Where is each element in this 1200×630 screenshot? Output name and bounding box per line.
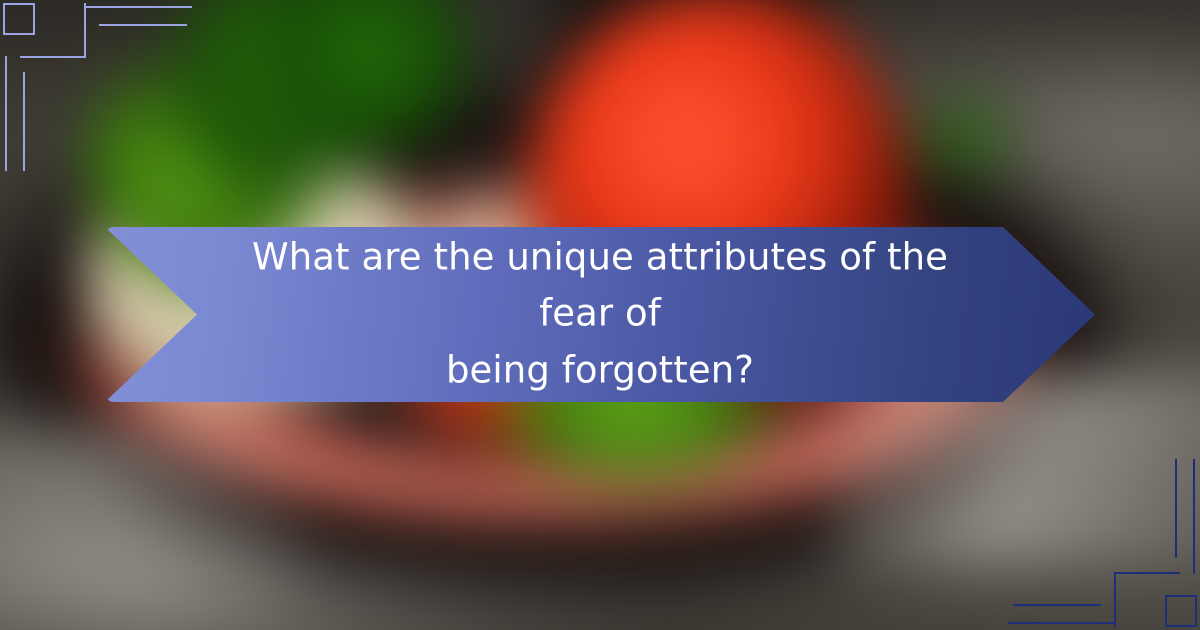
corner-step-horizontal	[20, 56, 86, 58]
corner-step-vertical	[84, 3, 86, 58]
question-banner: What are the unique attributes of the fe…	[105, 227, 1095, 402]
corner-step-horizontal	[1114, 572, 1180, 574]
quote-card: What are the unique attributes of the fe…	[0, 0, 1200, 630]
corner-rule-vertical-outer	[5, 56, 7, 171]
corner-bracket-bottom-right	[1030, 460, 1200, 630]
corner-step-vertical	[1114, 572, 1116, 627]
corner-square-icon	[3, 3, 35, 35]
corner-rule-horizontal-inner	[99, 24, 187, 26]
corner-rule-horizontal-outer	[1008, 622, 1116, 624]
corner-rule-vertical-inner	[23, 72, 25, 171]
corner-rule-vertical-inner	[1175, 459, 1177, 558]
corner-square-icon	[1165, 595, 1197, 627]
corner-rule-horizontal-inner	[1013, 604, 1101, 606]
corner-rule-vertical-outer	[1193, 459, 1195, 574]
basil-cluster-right	[876, 66, 1056, 225]
corner-bracket-top-left	[0, 0, 170, 170]
question-text: What are the unique attributes of the fe…	[225, 229, 975, 400]
corner-rule-horizontal-outer	[84, 6, 192, 8]
